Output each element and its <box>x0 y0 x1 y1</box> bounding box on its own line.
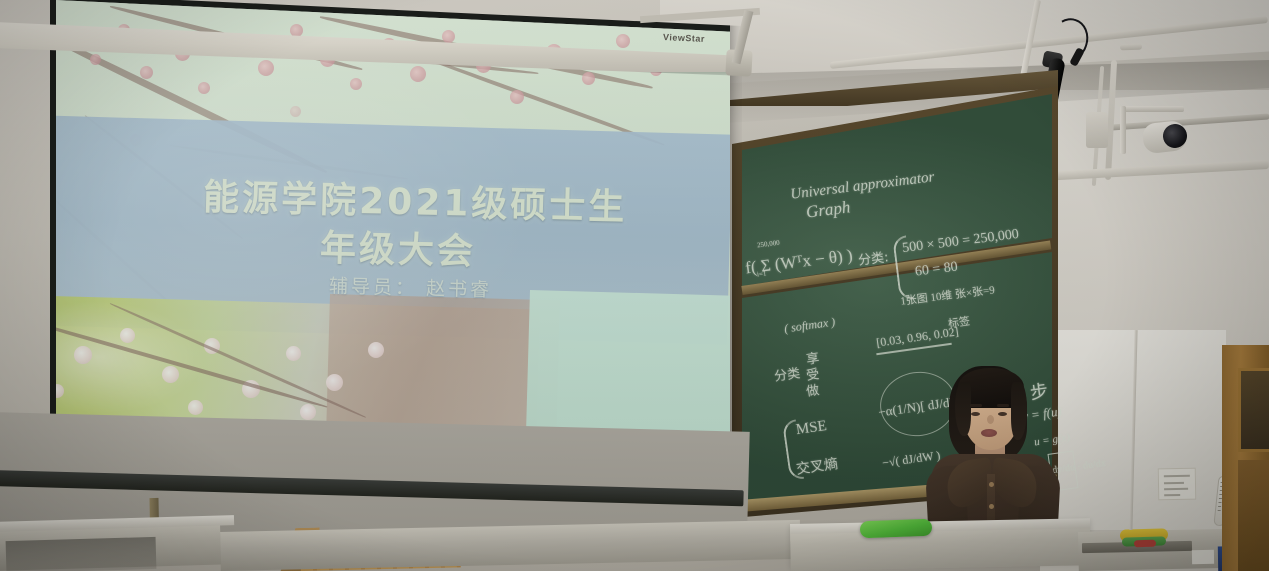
speaker-mouth <box>981 429 997 437</box>
speaker-eye-right <box>998 412 1007 416</box>
red-marker-object[interactable] <box>1134 540 1156 548</box>
speaker-brow-right <box>997 404 1009 407</box>
speaker-hair-left <box>955 382 971 436</box>
notice-line-4 <box>1164 494 1180 496</box>
door-glass-panel <box>1238 368 1269 452</box>
camera-arm-horizontal <box>1120 106 1184 112</box>
notice-line-2 <box>1164 482 1184 484</box>
white-label-tag <box>1192 550 1214 564</box>
roller-brand-label: ViewStar <box>663 32 705 44</box>
door-lower-panel <box>1238 460 1269 571</box>
notice-line-3 <box>1164 488 1188 490</box>
blackboard-eraser-cloth[interactable] <box>860 519 933 539</box>
slide-title-line2: 年级大会 <box>319 219 476 275</box>
conduit-junction-box <box>1086 112 1108 148</box>
classroom-scene: Universal approximator Graph f( Σ (Wᵀx −… <box>0 0 1269 571</box>
slide-subtitle: 辅导员： 赵书睿 <box>329 271 493 302</box>
speaker-nose <box>987 415 994 424</box>
speaker-eye-left <box>971 412 980 416</box>
desk-shadow <box>6 537 157 571</box>
wall-notice <box>1158 468 1197 501</box>
right-wall-panel <box>1056 330 1226 530</box>
notice-line-1 <box>1164 475 1190 477</box>
camera-arm-vertical <box>1120 106 1126 154</box>
speaker-button-1 <box>989 482 994 487</box>
speaker-brow-left <box>970 404 982 407</box>
conduit-pipe-5 <box>1120 44 1142 51</box>
speaker-person <box>925 362 1061 542</box>
speaker-button-2 <box>989 504 994 509</box>
